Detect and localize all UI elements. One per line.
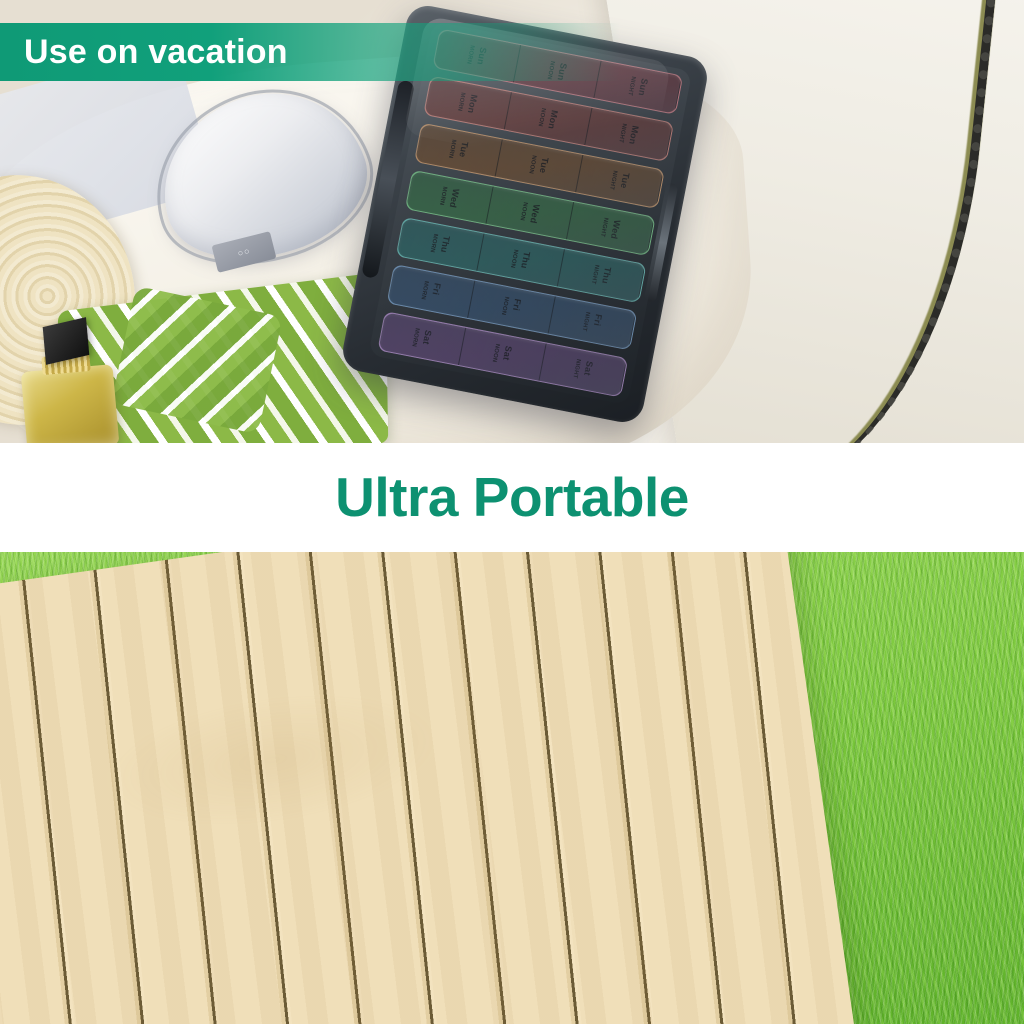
case-cell-label: SatMORN — [410, 327, 433, 350]
case-cell-label: FriNOON — [500, 296, 523, 318]
case-cell-label: TueNOON — [527, 155, 550, 177]
case-cell-label: WedNIGHT — [599, 217, 622, 240]
case-cell-mon-morn: MonMORN — [424, 77, 512, 130]
case-cell-label: MonMORN — [456, 92, 479, 115]
case-cell-label: TueMORN — [447, 139, 470, 162]
case-cell-label: ThuNIGHT — [589, 264, 612, 287]
title-band: Ultra Portable — [0, 443, 1024, 552]
case-cell-label: TueNIGHT — [608, 170, 631, 193]
banner-use-on-vacation: Use on vacation — [0, 23, 620, 81]
case-cell-label: ThuNOON — [509, 249, 532, 271]
top-photo-vacation: ○○ SunMORNSunNOONSunNIGHTMonMORNMonNOONM… — [0, 0, 1024, 443]
case-cell-label: SatNIGHT — [571, 358, 594, 381]
case-cell-label: WedMORN — [438, 186, 461, 209]
case-cell-wed-noon: WedNOON — [486, 187, 574, 240]
case-cell-label: FriNIGHT — [580, 311, 603, 334]
case-cell-label: FriMORN — [419, 280, 442, 303]
case-cell-fri-morn: FriMORN — [388, 265, 476, 318]
case-cell-sat-noon: SatNOON — [459, 328, 547, 381]
case-cell-wed-night: WedNIGHT — [567, 202, 655, 255]
wooden-slat-table — [0, 552, 855, 1024]
case-cell-fri-night: FriNIGHT — [549, 296, 637, 349]
product-marketing-image: ○○ SunMORNSunNOONSunNIGHTMonMORNMonNOONM… — [0, 0, 1024, 1024]
case-cell-label: MonNOON — [536, 107, 559, 130]
banner-label-top: Use on vacation — [24, 33, 288, 72]
case-cell-tue-night: TueNIGHT — [576, 155, 664, 208]
case-cell-sat-morn: SatMORN — [378, 312, 466, 365]
case-cell-label: ThuMORN — [428, 233, 451, 256]
case-cell-thu-morn: ThuMORN — [397, 218, 485, 271]
case-cell-label: WedNOON — [518, 201, 541, 224]
case-cell-thu-noon: ThuNOON — [477, 234, 565, 287]
perfume-bottle — [21, 364, 120, 443]
case-cell-mon-night: MonNIGHT — [585, 108, 673, 161]
case-cell-tue-noon: TueNOON — [496, 139, 584, 192]
bottom-photo-outdoors: SunMORNSunNOONSunNIGHTMonMORNMonNOONMonN… — [0, 552, 1024, 1024]
case-cell-label: SatNOON — [491, 343, 514, 365]
case-cell-tue-morn: TueMORN — [415, 124, 503, 177]
case-cell-label: SunNIGHT — [626, 76, 649, 99]
case-cell-fri-noon: FriNOON — [468, 281, 556, 334]
case-cell-thu-night: ThuNIGHT — [558, 249, 646, 302]
case-cell-wed-morn: WedMORN — [406, 171, 494, 224]
case-cell-sat-night: SatNIGHT — [539, 344, 627, 397]
case-cell-mon-noon: MonNOON — [505, 92, 593, 145]
page-title: Ultra Portable — [335, 470, 689, 525]
case-cell-label: MonNIGHT — [617, 123, 640, 146]
